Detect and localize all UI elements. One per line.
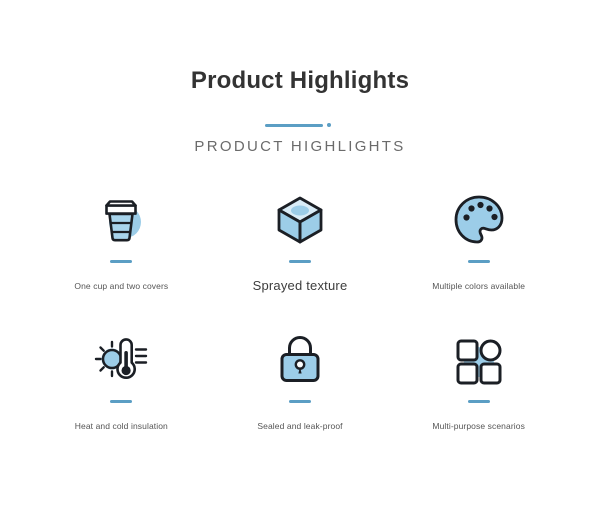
feature-caption: Sealed and leak-proof (257, 420, 342, 432)
feature-item-multi-purpose-scenarios: Multi-purpose scenarios (389, 329, 568, 469)
feature-item-sprayed-texture: Sprayed texture (211, 189, 390, 329)
page-subtitle: PRODUCT HIGHLIGHTS (0, 138, 600, 155)
feature-underline (468, 400, 490, 403)
feature-item-sealed-leak-proof: Sealed and leak-proof (211, 329, 390, 469)
product-highlights-page: Product Highlights PRODUCT HIGHLIGHTS On… (0, 0, 600, 526)
page-title: Product Highlights (0, 66, 600, 96)
feature-caption: One cup and two covers (74, 280, 168, 292)
feature-underline (110, 400, 132, 403)
feature-caption: Multi-purpose scenarios (432, 420, 525, 432)
divider-line (265, 124, 323, 127)
feature-item-one-cup-two-covers: One cup and two covers (32, 189, 211, 329)
title-divider (265, 122, 335, 128)
feature-grid: One cup and two covers Sprayed texture (0, 189, 600, 469)
feature-underline (289, 400, 311, 403)
coffee-cup-icon (89, 189, 153, 251)
thermometer-sun-icon (89, 329, 153, 391)
feature-caption: Sprayed texture (253, 280, 348, 292)
feature-caption: Multiple colors available (432, 280, 525, 292)
padlock-icon (268, 329, 332, 391)
page-header: Product Highlights PRODUCT HIGHLIGHTS (0, 0, 600, 155)
grid-shapes-icon (447, 329, 511, 391)
box-cube-icon (268, 189, 332, 251)
feature-caption: Heat and cold insulation (75, 420, 168, 432)
feature-underline (468, 260, 490, 263)
feature-item-multiple-colors: Multiple colors available (389, 189, 568, 329)
feature-underline (289, 260, 311, 263)
feature-item-heat-cold-insulation: Heat and cold insulation (32, 329, 211, 469)
feature-underline (110, 260, 132, 263)
divider-dot (327, 123, 331, 127)
paint-palette-icon (447, 189, 511, 251)
